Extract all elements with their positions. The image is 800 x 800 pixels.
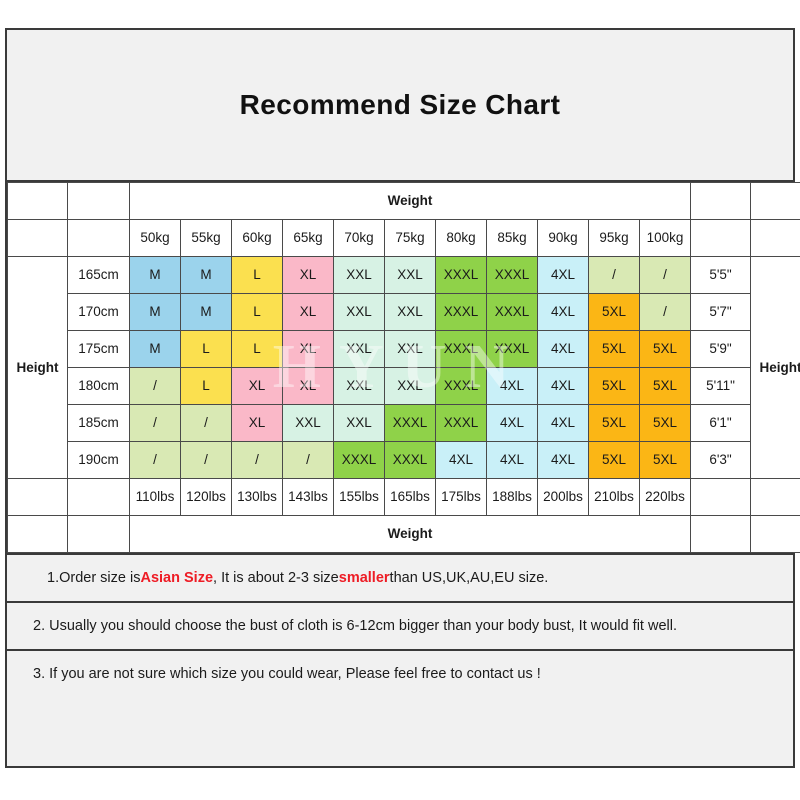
- note-3: 3. If you are not sure which size you co…: [7, 649, 793, 697]
- note-text: , It is about 2-3 size: [213, 570, 339, 586]
- size-table-wrap: Weight50kg55kg60kg65kg70kg75kg80kg85kg90…: [7, 182, 793, 553]
- size-cell-4-9: 5XL: [589, 405, 640, 442]
- weight-kg-header-6: 80kg: [436, 220, 487, 257]
- size-cell-0-2: L: [232, 257, 283, 294]
- note-1: 1.Order size is Asian Size, It is about …: [7, 553, 793, 601]
- size-cell-4-10: 5XL: [640, 405, 691, 442]
- size-cell-1-6: XXXL: [436, 294, 487, 331]
- weight-kg-header-row: 50kg55kg60kg65kg70kg75kg80kg85kg90kg95kg…: [8, 220, 800, 257]
- size-cell-4-3: XXL: [283, 405, 334, 442]
- size-cell-5-4: XXXL: [334, 442, 385, 479]
- size-cell-3-10: 5XL: [640, 368, 691, 405]
- size-cell-0-8: 4XL: [538, 257, 589, 294]
- size-cell-3-8: 4XL: [538, 368, 589, 405]
- size-cell-4-7: 4XL: [487, 405, 538, 442]
- note-highlight: Asian Size: [140, 570, 213, 586]
- size-cell-2-8: 4XL: [538, 331, 589, 368]
- size-cell-1-7: XXXL: [487, 294, 538, 331]
- weight-lbs-header-6: 175lbs: [436, 479, 487, 516]
- height-cm-header-0: 165cm: [68, 257, 130, 294]
- size-cell-1-9: 5XL: [589, 294, 640, 331]
- weight-lbs-header-5: 165lbs: [385, 479, 436, 516]
- weight-lbs-header-10: 220lbs: [640, 479, 691, 516]
- note-2: 2. Usually you should choose the bust of…: [7, 601, 793, 649]
- note-text: than US,UK,AU,EU size.: [390, 570, 549, 586]
- height-ft-header-1: 5'7": [691, 294, 751, 331]
- size-cell-2-6: XXXL: [436, 331, 487, 368]
- weight-kg-header-0: 50kg: [130, 220, 181, 257]
- notes-section: 1.Order size is Asian Size, It is about …: [7, 553, 793, 697]
- size-table-row: 175cmMLLXLXXLXXLXXXLXXXL4XL5XL5XL5'9": [8, 331, 800, 368]
- size-cell-0-9: /: [589, 257, 640, 294]
- weight-lbs-header-0: 110lbs: [130, 479, 181, 516]
- size-cell-2-2: L: [232, 331, 283, 368]
- weight-header-top: Weight: [130, 183, 691, 220]
- height-cm-header-2: 175cm: [68, 331, 130, 368]
- note-text: 3. If you are not sure which size you co…: [33, 666, 541, 682]
- weight-group-header-row: Weight: [8, 183, 800, 220]
- size-cell-3-5: XXL: [385, 368, 436, 405]
- height-label-right: Height: [751, 257, 800, 479]
- size-table-row: 180cm/LXLXLXXLXXLXXXL4XL4XL5XL5XL5'11": [8, 368, 800, 405]
- size-cell-5-7: 4XL: [487, 442, 538, 479]
- weight-kg-header-10: 100kg: [640, 220, 691, 257]
- size-cell-3-3: XL: [283, 368, 334, 405]
- height-ft-header-0: 5'5": [691, 257, 751, 294]
- title-area: Recommend Size Chart: [7, 30, 793, 182]
- size-table-row: Height165cmMMLXLXXLXXLXXXLXXXL4XL//5'5"H…: [8, 257, 800, 294]
- size-table-row: 185cm//XLXXLXXLXXXLXXXL4XL4XL5XL5XL6'1": [8, 405, 800, 442]
- size-cell-1-3: XL: [283, 294, 334, 331]
- size-cell-5-8: 4XL: [538, 442, 589, 479]
- size-cell-3-9: 5XL: [589, 368, 640, 405]
- size-cell-0-3: XL: [283, 257, 334, 294]
- size-cell-4-6: XXXL: [436, 405, 487, 442]
- weight-kg-header-1: 55kg: [181, 220, 232, 257]
- size-cell-5-9: 5XL: [589, 442, 640, 479]
- height-ft-header-3: 5'11": [691, 368, 751, 405]
- weight-kg-header-3: 65kg: [283, 220, 334, 257]
- page-title: Recommend Size Chart: [240, 89, 561, 121]
- weight-kg-header-8: 90kg: [538, 220, 589, 257]
- weight-lbs-header-9: 210lbs: [589, 479, 640, 516]
- note-text: 2. Usually you should choose the bust of…: [33, 618, 677, 634]
- size-cell-2-4: XXL: [334, 331, 385, 368]
- size-cell-4-1: /: [181, 405, 232, 442]
- weight-lbs-header-7: 188lbs: [487, 479, 538, 516]
- size-cell-5-5: XXXL: [385, 442, 436, 479]
- size-cell-5-0: /: [130, 442, 181, 479]
- size-cell-1-2: L: [232, 294, 283, 331]
- size-cell-4-2: XL: [232, 405, 283, 442]
- height-label-left: Height: [8, 257, 68, 479]
- height-cm-header-3: 180cm: [68, 368, 130, 405]
- size-cell-2-1: L: [181, 331, 232, 368]
- size-cell-4-5: XXXL: [385, 405, 436, 442]
- size-cell-3-6: XXXL: [436, 368, 487, 405]
- size-cell-4-8: 4XL: [538, 405, 589, 442]
- weight-kg-header-7: 85kg: [487, 220, 538, 257]
- note-highlight: smaller: [339, 570, 390, 586]
- weight-kg-header-2: 60kg: [232, 220, 283, 257]
- size-cell-0-10: /: [640, 257, 691, 294]
- size-cell-1-1: M: [181, 294, 232, 331]
- weight-kg-header-9: 95kg: [589, 220, 640, 257]
- size-cell-5-1: /: [181, 442, 232, 479]
- size-cell-2-7: XXXL: [487, 331, 538, 368]
- size-cell-0-0: M: [130, 257, 181, 294]
- height-ft-header-4: 6'1": [691, 405, 751, 442]
- height-ft-header-2: 5'9": [691, 331, 751, 368]
- size-cell-2-9: 5XL: [589, 331, 640, 368]
- weight-kg-header-5: 75kg: [385, 220, 436, 257]
- size-cell-2-3: XL: [283, 331, 334, 368]
- size-cell-2-10: 5XL: [640, 331, 691, 368]
- size-cell-5-6: 4XL: [436, 442, 487, 479]
- size-cell-3-7: 4XL: [487, 368, 538, 405]
- chart-panel: Recommend Size Chart Weight50kg55kg60kg6…: [5, 28, 795, 768]
- size-cell-5-3: /: [283, 442, 334, 479]
- size-cell-2-5: XXL: [385, 331, 436, 368]
- size-cell-0-7: XXXL: [487, 257, 538, 294]
- weight-group-footer-row: Weight: [8, 516, 800, 553]
- height-cm-header-5: 190cm: [68, 442, 130, 479]
- size-chart-table: Weight50kg55kg60kg65kg70kg75kg80kg85kg90…: [7, 182, 800, 553]
- size-cell-1-8: 4XL: [538, 294, 589, 331]
- size-cell-2-0: M: [130, 331, 181, 368]
- weight-lbs-header-1: 120lbs: [181, 479, 232, 516]
- height-cm-header-4: 185cm: [68, 405, 130, 442]
- size-cell-0-5: XXL: [385, 257, 436, 294]
- size-chart-page: Recommend Size Chart Weight50kg55kg60kg6…: [0, 0, 800, 800]
- size-cell-5-2: /: [232, 442, 283, 479]
- size-cell-4-4: XXL: [334, 405, 385, 442]
- weight-header-bottom: Weight: [130, 516, 691, 553]
- size-cell-3-1: L: [181, 368, 232, 405]
- size-cell-0-6: XXXL: [436, 257, 487, 294]
- weight-lbs-header-2: 130lbs: [232, 479, 283, 516]
- size-cell-3-2: XL: [232, 368, 283, 405]
- weight-lbs-header-3: 143lbs: [283, 479, 334, 516]
- size-cell-0-1: M: [181, 257, 232, 294]
- size-cell-5-10: 5XL: [640, 442, 691, 479]
- size-table-row: 190cm////XXXLXXXL4XL4XL4XL5XL5XL6'3": [8, 442, 800, 479]
- height-cm-header-1: 170cm: [68, 294, 130, 331]
- size-cell-3-4: XXL: [334, 368, 385, 405]
- height-ft-header-5: 6'3": [691, 442, 751, 479]
- note-text: 1.Order size is: [47, 570, 140, 586]
- weight-lbs-header-row: 110lbs120lbs130lbs143lbs155lbs165lbs175l…: [8, 479, 800, 516]
- weight-lbs-header-4: 155lbs: [334, 479, 385, 516]
- weight-lbs-header-8: 200lbs: [538, 479, 589, 516]
- size-cell-0-4: XXL: [334, 257, 385, 294]
- size-cell-3-0: /: [130, 368, 181, 405]
- size-cell-1-10: /: [640, 294, 691, 331]
- size-table-row: 170cmMMLXLXXLXXLXXXLXXXL4XL5XL/5'7": [8, 294, 800, 331]
- size-cell-4-0: /: [130, 405, 181, 442]
- weight-kg-header-4: 70kg: [334, 220, 385, 257]
- size-cell-1-0: M: [130, 294, 181, 331]
- size-cell-1-5: XXL: [385, 294, 436, 331]
- size-cell-1-4: XXL: [334, 294, 385, 331]
